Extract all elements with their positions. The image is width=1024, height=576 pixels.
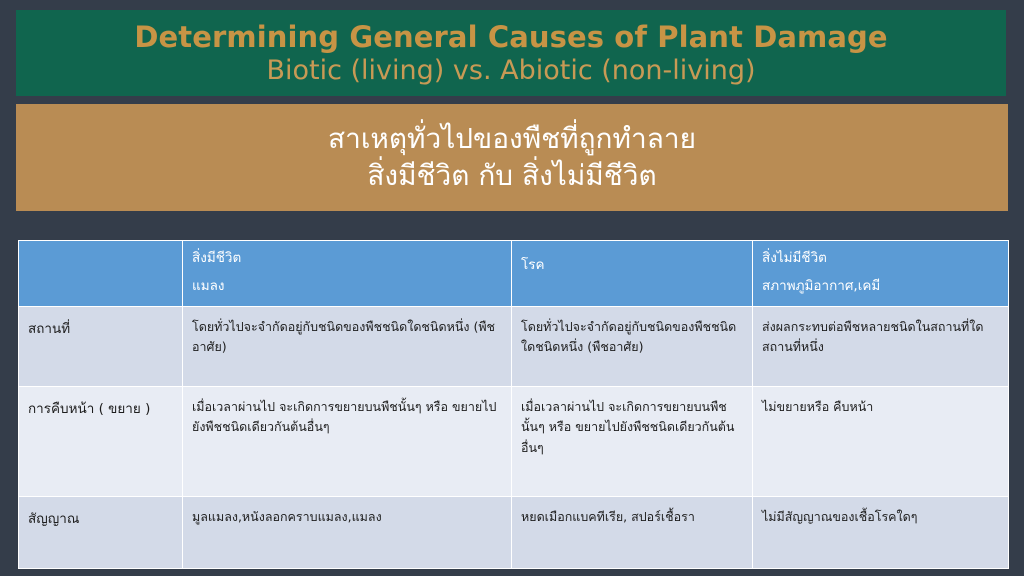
table-header-cell-abiotic: สิ่งไม่มีชีวิต สภาพภูมิอากาศ,เคมี (753, 241, 1009, 307)
cell-abiotic: ไม่ขยายหรือ คืบหน้า (753, 387, 1009, 497)
slide: Determining General Causes of Plant Dama… (0, 0, 1024, 576)
table-row: สถานที่ โดยทั่วไปจะจำกัดอยู่กับชนิดของพื… (19, 307, 1009, 387)
thai-subtitle-band: สาเหตุทั่วไปของพืชที่ถูกทำลาย สิ่งมีชีวิ… (16, 104, 1008, 211)
comparison-table-wrapper: สิ่งมีชีวิต แมลง โรค สิ่งไม่มีชีวิต สภาพ… (18, 240, 1008, 568)
title-banner: Determining General Causes of Plant Dama… (16, 10, 1006, 96)
table-header-cell-biotic-disease: โรค (512, 241, 753, 307)
cell-abiotic: ไม่มีสัญญาณของเชื้อโรคใดๆ (753, 497, 1009, 569)
header-line-2: สภาพภูมิอากาศ,เคมี (762, 276, 999, 297)
cell-biotic-insect: เมื่อเวลาผ่านไป จะเกิดการขยายบนพืชนั้นๆ … (183, 387, 512, 497)
table-header-row: สิ่งมีชีวิต แมลง โรค สิ่งไม่มีชีวิต สภาพ… (19, 241, 1009, 307)
cell-biotic-disease: โดยทั่วไปจะจำกัดอยู่กับชนิดของพืชชนิดใดช… (512, 307, 753, 387)
cell-biotic-insect: โดยทั่วไปจะจำกัดอยู่กับชนิดของพืชชนิดใดช… (183, 307, 512, 387)
header-line-1: สิ่งมีชีวิต (192, 248, 502, 269)
row-label: สัญญาณ (19, 497, 183, 569)
cell-abiotic: ส่งผลกระทบต่อพืชหลายชนิดในสถานที่ใดสถานท… (753, 307, 1009, 387)
thai-subtitle-line-1: สาเหตุทั่วไปของพืชที่ถูกทำลาย (328, 121, 696, 158)
page-title: Determining General Causes of Plant Dama… (134, 22, 887, 53)
header-line-2: แมลง (192, 276, 502, 297)
header-line-1: สิ่งไม่มีชีวิต (762, 248, 999, 269)
cell-biotic-disease: หยดเมือกแบคทีเรีย, สปอร์เชื้อรา (512, 497, 753, 569)
cell-biotic-disease: เมื่อเวลาผ่านไป จะเกิดการขยายบนพืชนั้นๆ … (512, 387, 753, 497)
row-label: การคืบหน้า ( ขยาย ) (19, 387, 183, 497)
header-line-2: โรค (521, 255, 743, 276)
table-header-cell-blank (19, 241, 183, 307)
comparison-table: สิ่งมีชีวิต แมลง โรค สิ่งไม่มีชีวิต สภาพ… (18, 240, 1009, 569)
table-row: สัญญาณ มูลแมลง,หนังลอกคราบแมลง,แมลง หยดเ… (19, 497, 1009, 569)
page-subtitle: Biotic (living) vs. Abiotic (non-living) (266, 55, 755, 86)
table-row: การคืบหน้า ( ขยาย ) เมื่อเวลาผ่านไป จะเก… (19, 387, 1009, 497)
cell-biotic-insect: มูลแมลง,หนังลอกคราบแมลง,แมลง (183, 497, 512, 569)
row-label: สถานที่ (19, 307, 183, 387)
table-header-cell-biotic-insect: สิ่งมีชีวิต แมลง (183, 241, 512, 307)
thai-subtitle-line-2: สิ่งมีชีวิต กับ สิ่งไม่มีชีวิต (367, 158, 656, 195)
